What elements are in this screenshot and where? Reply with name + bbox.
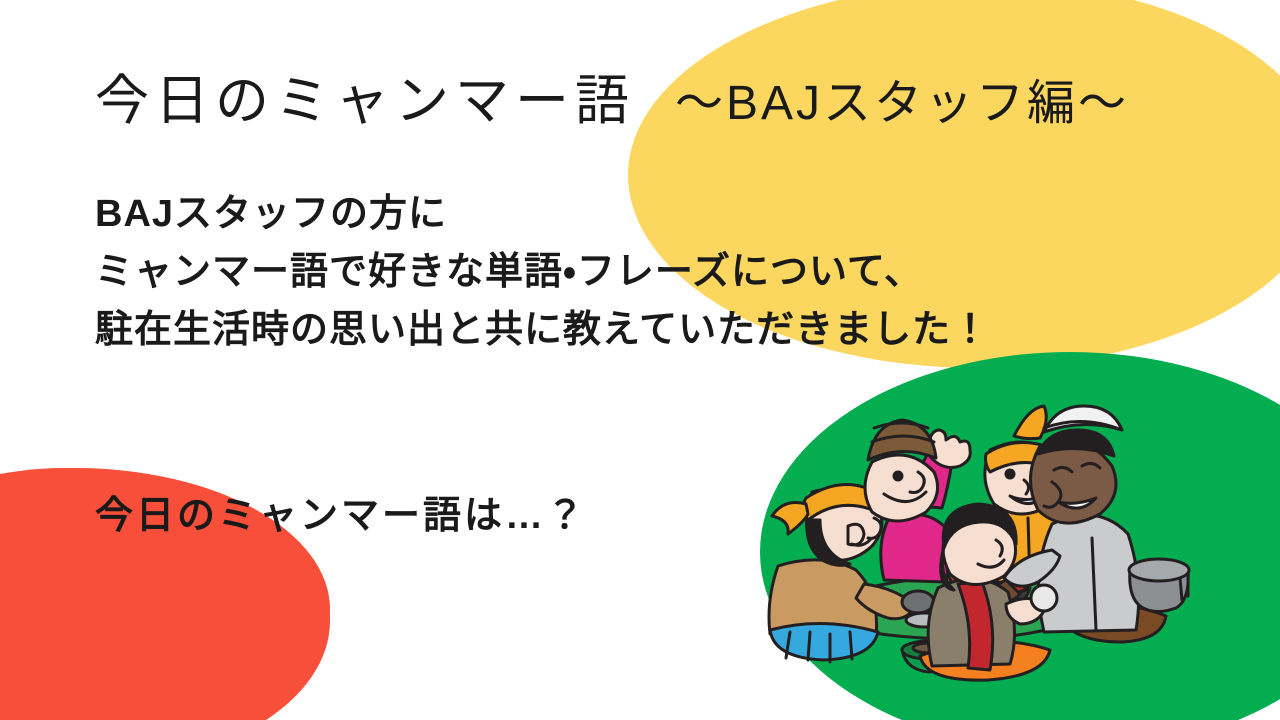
people-sharing-meal-illustration xyxy=(752,398,1192,698)
figure-ear xyxy=(848,524,864,545)
slide-canvas: 今日のミャンマー語 〜BAJスタッフ編〜 BAJスタッフの方に ミャンマー語で好… xyxy=(0,0,1280,720)
question-text: 今日のミャンマー語は…？ xyxy=(95,484,587,539)
title-subtitle-text: 〜BAJスタッフ編〜 xyxy=(675,63,1129,133)
slide-title: 今日のミャンマー語 〜BAJスタッフ編〜 xyxy=(95,56,1129,135)
headband-peak xyxy=(1014,406,1046,439)
headscarf-knot xyxy=(772,503,808,535)
lead-line-2: ミャンマー語で好きな単語・フレーズについて、 xyxy=(95,244,990,302)
hand-food xyxy=(902,591,934,613)
figure-body xyxy=(881,514,949,582)
metal-pot xyxy=(1129,559,1189,612)
white-kufi-cap xyxy=(1044,406,1122,432)
figure-eye xyxy=(1006,470,1014,478)
figure-head xyxy=(865,455,938,521)
figure-eye xyxy=(894,472,902,480)
title-main-text: 今日のミャンマー語 xyxy=(95,56,635,135)
grey-robe xyxy=(1039,515,1139,632)
lead-line-3: 駐在生活時の思い出と共に教えていただきました！ xyxy=(95,302,990,360)
lead-line-1: BAJスタッフの方に xyxy=(95,186,990,244)
rice-ball xyxy=(1031,585,1057,611)
lead-paragraph: BAJスタッフの方に ミャンマー語で好きな単語・フレーズについて、 駐在生活時の… xyxy=(95,186,990,359)
